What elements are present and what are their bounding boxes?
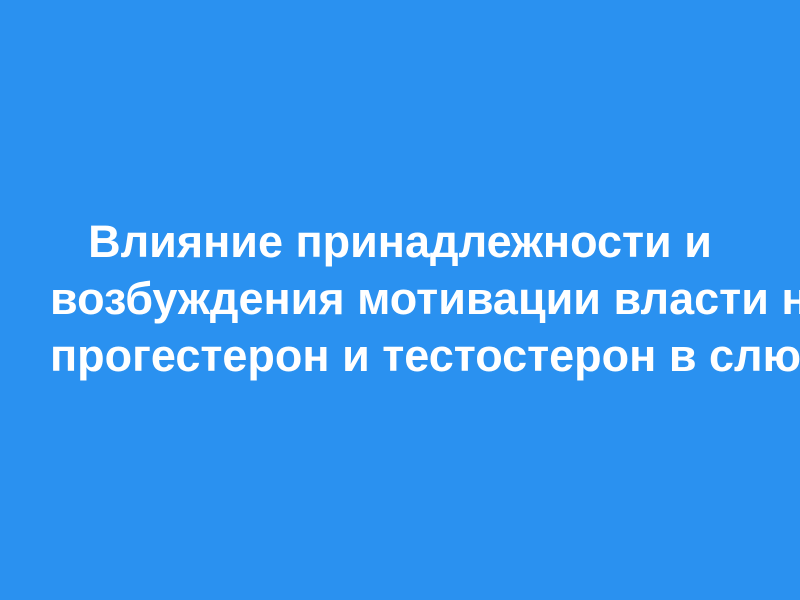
title-line-3: прогестерон и тестостерон в слюне xyxy=(50,327,750,384)
title-card: Влияние принадлежности и возбуждения мот… xyxy=(0,0,800,600)
title-line-1: Влияние принадлежности и xyxy=(50,213,750,270)
title-line-2: возбуждения мотивации власти на xyxy=(50,270,750,327)
page-title: Влияние принадлежности и возбуждения мот… xyxy=(50,213,750,384)
